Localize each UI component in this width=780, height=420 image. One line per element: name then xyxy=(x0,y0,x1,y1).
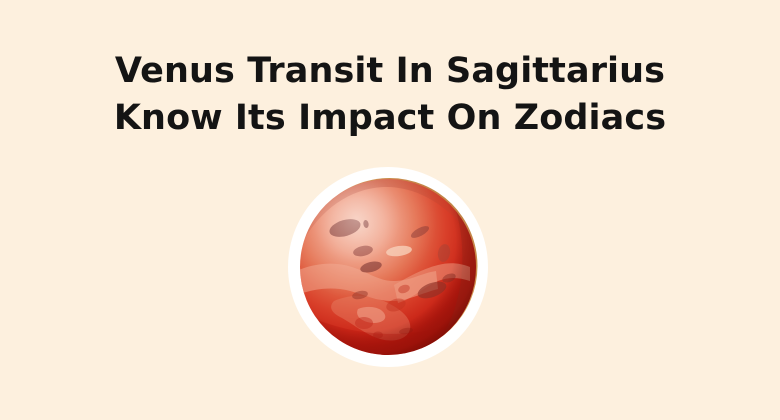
page-title: Venus Transit In Sagittarius Know Its Im… xyxy=(0,48,780,141)
title-line-2: Know Its Impact On Zodiacs xyxy=(0,95,780,142)
title-line-1: Venus Transit In Sagittarius xyxy=(0,48,780,95)
planet-body xyxy=(298,177,478,357)
poster-canvas: Venus Transit In Sagittarius Know Its Im… xyxy=(0,0,780,420)
planet-limb-shadow xyxy=(300,179,476,355)
planet-graphic xyxy=(298,177,478,357)
planet-illustration xyxy=(288,167,488,367)
